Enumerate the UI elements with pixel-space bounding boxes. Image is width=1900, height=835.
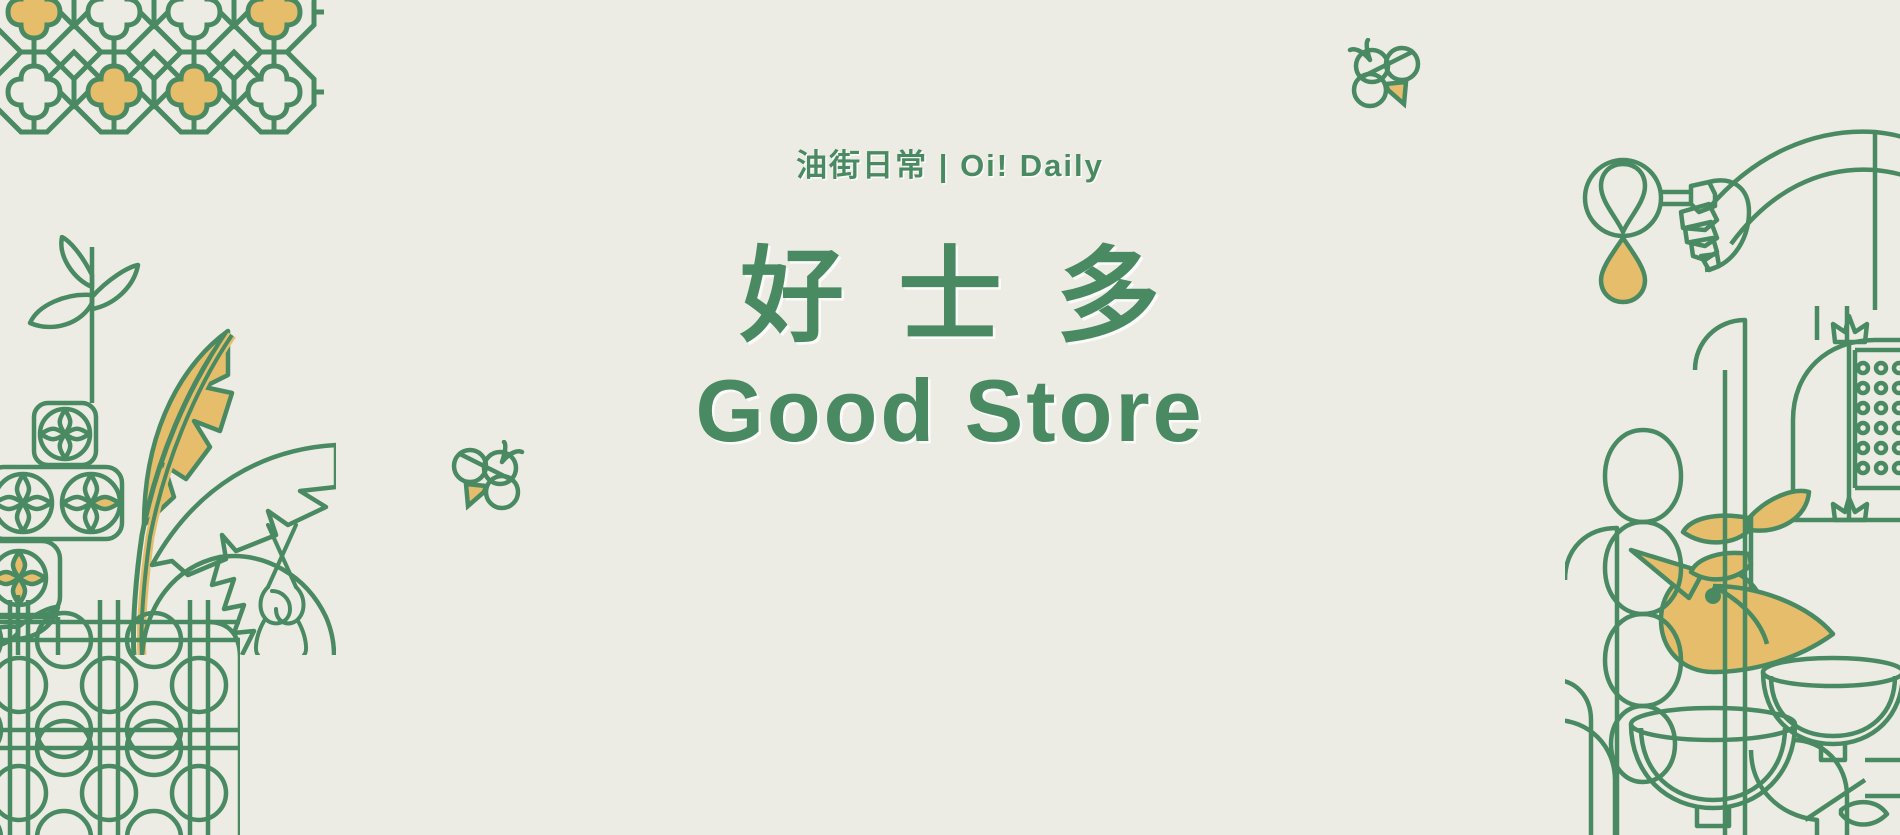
- oi-daily-good-store-banner: 油街日常 | Oi! Daily 好士多 Good Store: [0, 0, 1900, 835]
- bee-icon-decoration: [1340, 38, 1430, 118]
- banner-text-block: 油街日常 | Oi! Daily 好士多 Good Store: [0, 150, 1900, 455]
- banner-title-chinese: 好士多: [686, 245, 1214, 349]
- lattice-quatrefoil-panel-decoration: [0, 0, 324, 142]
- banner-title-english: Good Store: [695, 367, 1204, 455]
- circle-lattice-panel-decoration: [0, 600, 240, 835]
- banner-eyebrow-label: 油街日常 | Oi! Daily: [796, 150, 1104, 181]
